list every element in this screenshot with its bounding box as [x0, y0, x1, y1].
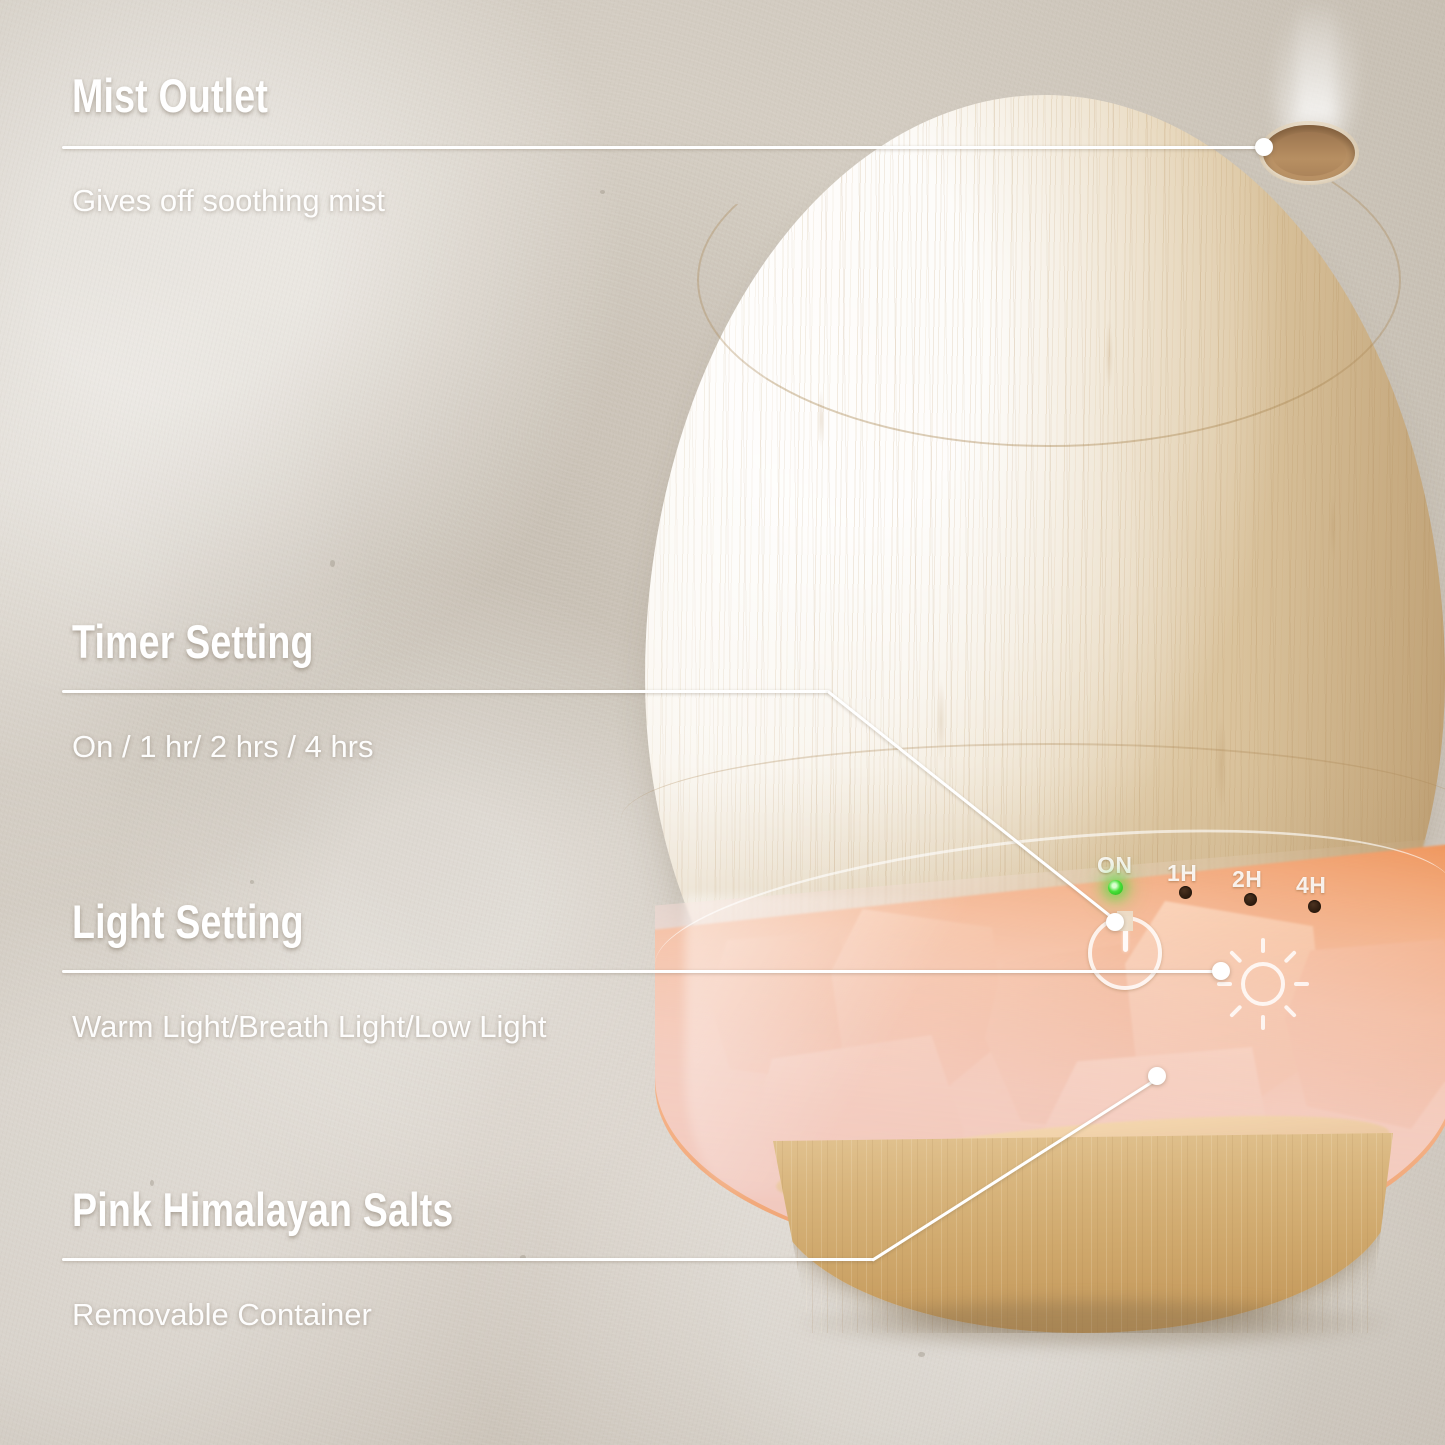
- led-on-active: [1108, 880, 1123, 895]
- callout-subtitle: Warm Light/Breath Light/Low Light: [72, 1011, 546, 1042]
- callout-title: Pink Himalayan Salts: [72, 1186, 453, 1233]
- callout-title: Light Setting: [72, 898, 452, 945]
- diffuser-product-image: [645, 95, 1445, 1330]
- sun-icon-core: [1241, 962, 1285, 1006]
- control-panel: ON 1H 2H 4H: [1075, 838, 1395, 1028]
- callout-title: Timer Setting: [72, 618, 314, 665]
- sun-ray: [1229, 950, 1242, 963]
- sun-ray: [1261, 938, 1265, 953]
- led-1h: [1179, 886, 1192, 899]
- callout-leader-timer-setting: [62, 690, 830, 693]
- mist-outlet-hole: [1263, 125, 1355, 181]
- callout-subtitle: Gives off soothing mist: [72, 185, 385, 216]
- sun-icon[interactable]: [1215, 936, 1311, 1032]
- indicator-label-2h: 2H: [1232, 866, 1262, 893]
- power-icon[interactable]: [1088, 916, 1162, 990]
- sun-ray: [1294, 982, 1309, 986]
- infographic-canvas: ON 1H 2H 4H Mist Outlet Gives off soothi…: [0, 0, 1445, 1445]
- callout-endpoint-salts: [1148, 1067, 1166, 1085]
- indicator-label-4h: 4H: [1296, 872, 1326, 899]
- indicator-label-1h: 1H: [1167, 860, 1197, 887]
- indicator-label-on: ON: [1097, 852, 1133, 879]
- callout-endpoint-light-setting: [1212, 962, 1230, 980]
- callout-title: Mist Outlet: [72, 72, 322, 119]
- callout-endpoint-timer-setting: [1106, 913, 1124, 931]
- sun-ray: [1284, 950, 1297, 963]
- callout-subtitle: Removable Container: [72, 1299, 549, 1330]
- callout-leader-salts: [62, 1258, 874, 1261]
- callout-endpoint-mist-outlet: [1255, 138, 1273, 156]
- led-2h: [1244, 893, 1257, 906]
- callout-leader-mist-outlet: [62, 146, 1268, 149]
- mist-outlet-inner: [1272, 132, 1346, 176]
- sun-ray: [1261, 1015, 1265, 1030]
- callout-mist-outlet: Mist Outlet Gives off soothing mist: [72, 72, 385, 216]
- sun-ray: [1217, 982, 1232, 986]
- drop-shadow: [795, 1295, 1395, 1351]
- led-4h: [1308, 900, 1321, 913]
- sun-ray: [1284, 1005, 1297, 1018]
- sun-ray: [1229, 1005, 1242, 1018]
- callout-leader-light-setting: [62, 970, 1224, 973]
- callout-subtitle: On / 1 hr/ 2 hrs / 4 hrs: [72, 731, 374, 762]
